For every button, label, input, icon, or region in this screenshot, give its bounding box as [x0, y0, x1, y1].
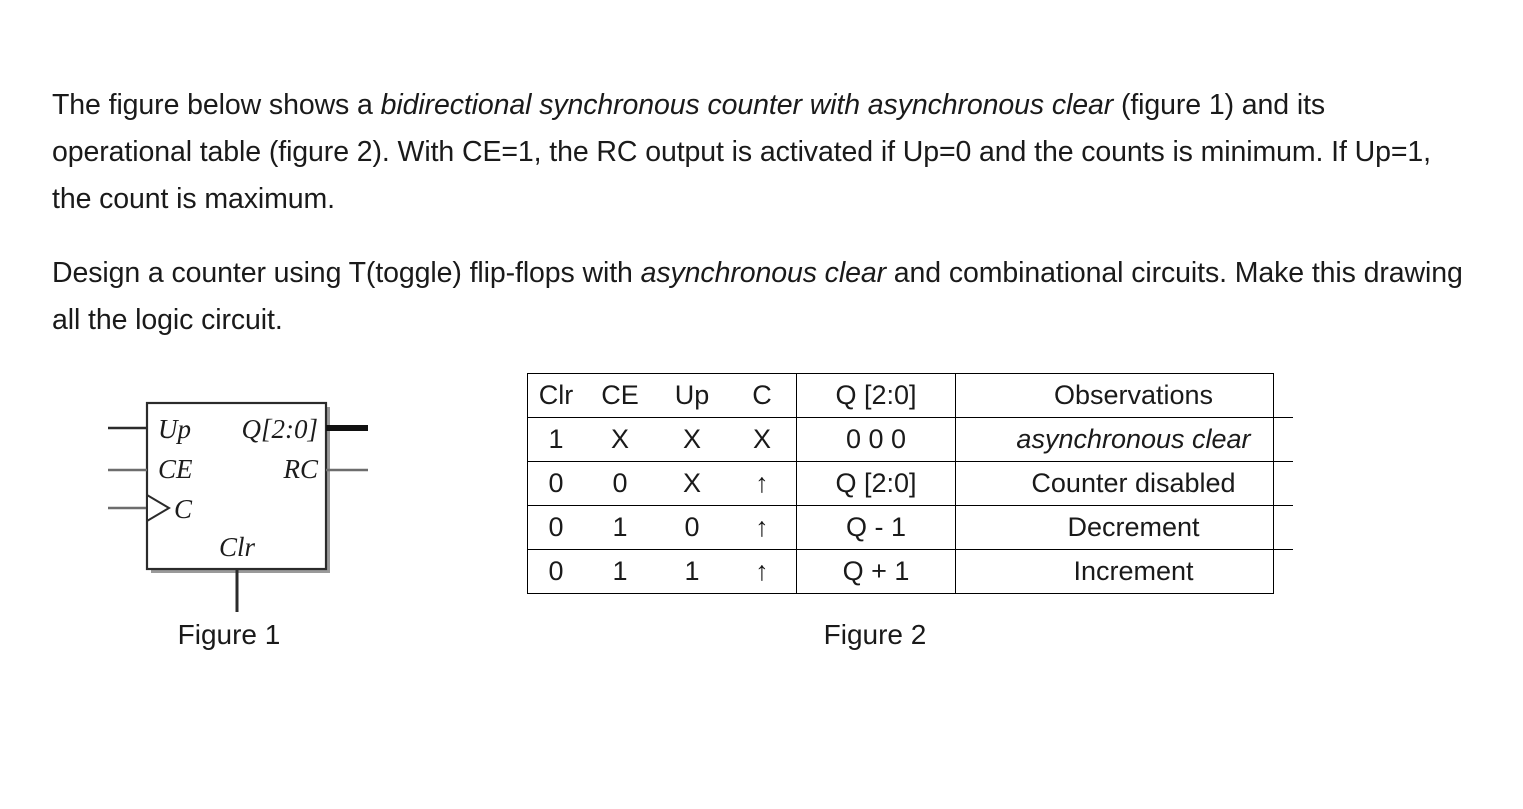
col-header-ce: CE	[584, 374, 656, 418]
cell-q: Q - 1	[797, 506, 956, 550]
col-header-observations: Observations	[956, 374, 1294, 418]
cell-ce: 0	[584, 462, 656, 506]
table-row: 0 0 X ↑ Q [2:0] Counter disabled	[528, 462, 1293, 506]
table-row: 1 X X X 0 0 0 asynchronous clear	[528, 418, 1293, 462]
cell-up: 1	[656, 550, 728, 594]
cell-clr: 0	[528, 462, 584, 506]
cell-up: X	[656, 462, 728, 506]
cell-clock: ↑	[728, 550, 797, 594]
cell-ce: X	[584, 418, 656, 462]
para1-run-1-emphasis: bidirectional synchronous counter with a…	[381, 89, 1114, 121]
paragraph-intro: The figure below shows a bidirectional s…	[52, 82, 1472, 223]
cell-clr: 0	[528, 550, 584, 594]
cell-observation: Counter disabled	[956, 462, 1294, 506]
para2-run-1-emphasis: asynchronous clear	[641, 257, 886, 289]
label-q-output: Q[2:0]	[241, 414, 318, 444]
cell-clock: ↑	[728, 462, 797, 506]
col-header-q: Q [2:0]	[797, 374, 956, 418]
cell-observation: Increment	[956, 550, 1294, 594]
para2-run-0: Design a counter using T(toggle) flip-fl…	[52, 257, 641, 289]
cell-observation: Decrement	[956, 506, 1294, 550]
col-header-c: C	[728, 374, 797, 418]
label-clock: C	[174, 494, 193, 524]
cell-q: Q + 1	[797, 550, 956, 594]
label-clr: Clr	[219, 532, 256, 562]
cell-up: 0	[656, 506, 728, 550]
cell-ce: 1	[584, 550, 656, 594]
figure2-operational-table: Clr CE Up C Q [2:0] Observations 1 X X X…	[527, 373, 1274, 594]
paragraph-task: Design a counter using T(toggle) flip-fl…	[52, 250, 1472, 344]
cell-clock: ↑	[728, 506, 797, 550]
cell-q: 0 0 0	[797, 418, 956, 462]
operational-table: Clr CE Up C Q [2:0] Observations 1 X X X…	[528, 374, 1293, 593]
label-up: Up	[158, 414, 191, 444]
label-rc-output: RC	[282, 454, 318, 484]
cell-ce: 1	[584, 506, 656, 550]
col-header-up: Up	[656, 374, 728, 418]
cell-q: Q [2:0]	[797, 462, 956, 506]
cell-clock: X	[728, 418, 797, 462]
table-row: 0 1 1 ↑ Q + 1 Increment	[528, 550, 1293, 594]
para1-run-0: The figure below shows a	[52, 89, 381, 121]
cell-clr: 1	[528, 418, 584, 462]
table-row: 0 1 0 ↑ Q - 1 Decrement	[528, 506, 1293, 550]
label-ce: CE	[158, 454, 193, 484]
cell-up: X	[656, 418, 728, 462]
col-header-clr: Clr	[528, 374, 584, 418]
figure1-caption: Figure 1	[100, 618, 358, 652]
figure2-caption: Figure 2	[700, 618, 1050, 652]
cell-observation: asynchronous clear	[956, 418, 1294, 462]
table-header-row: Clr CE Up C Q [2:0] Observations	[528, 374, 1293, 418]
cell-clr: 0	[528, 506, 584, 550]
